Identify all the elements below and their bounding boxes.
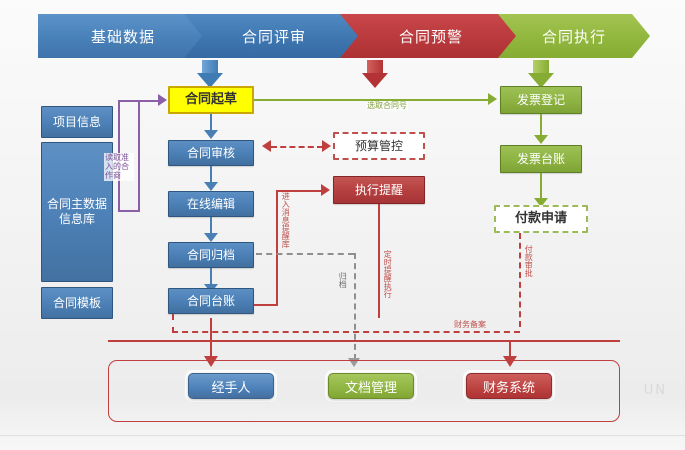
connector-payment-approval-v: [519, 233, 521, 327]
banner-arrow-red-icon: [362, 60, 388, 88]
node-invoice-ledger-label: 发票台账: [517, 152, 565, 167]
connector-dashed-bus: [172, 331, 520, 333]
connector-bus-to-handler-line: [210, 340, 212, 358]
node-contract-ledger[interactable]: 合同台账: [168, 288, 254, 314]
connector-exec-reminder-down: [378, 204, 380, 318]
connector-to-exec-reminder-arrow: [321, 184, 330, 196]
connector-invoice-reg-to-ledger-arrow: [534, 135, 548, 144]
node-contract-review-label: 合同审核: [187, 146, 235, 161]
sidebar-item-contract-master-db-label-1: 合同主数据: [47, 197, 107, 212]
connector-ledger-to-exec-h: [254, 304, 278, 306]
node-contract-archive[interactable]: 合同归档: [168, 242, 254, 268]
connector-review-to-edit-arrow: [204, 182, 218, 191]
node-invoice-register[interactable]: 发票登记: [500, 86, 582, 114]
connector-invoice-ledger-to-payment-line: [540, 173, 542, 199]
connector-archive-to-ledger-line: [210, 268, 212, 285]
banner-stage-4-label: 合同执行: [542, 26, 606, 47]
connector-sidebar-to-draft-top: [118, 100, 160, 102]
node-contract-archive-label: 合同归档: [187, 248, 235, 263]
node-contract-ledger-label: 合同台账: [187, 294, 235, 309]
connector-sidebar-to-draft-bottom: [118, 210, 140, 212]
stage-banner: 基础数据 合同评审 合同预警 合同执行: [38, 14, 650, 58]
connector-review-to-edit-line: [210, 166, 212, 183]
connector-ledger-down-to-bus: [210, 318, 212, 342]
sidebar-item-project-info[interactable]: 项目信息: [41, 106, 113, 138]
banner-stage-4[interactable]: 合同执行: [498, 14, 650, 58]
node-payment-request[interactable]: 付款申请: [494, 205, 588, 233]
node-online-edit-label: 在线编辑: [187, 197, 235, 212]
connector-exec-reminder-vertical: [276, 190, 278, 306]
sidebar-item-contract-master-db-label-2: 信息库: [59, 212, 95, 227]
node-contract-review[interactable]: 合同审核: [168, 140, 254, 166]
output-handler[interactable]: 经手人: [188, 373, 274, 399]
output-finance-system-label: 财务系统: [483, 377, 535, 396]
connector-invoice-reg-to-ledger-line: [540, 114, 542, 136]
banner-stage-3[interactable]: 合同预警: [340, 14, 522, 58]
connector-draft-to-review-line: [210, 114, 212, 131]
connector-sidebar-to-draft-arrowhead: [158, 94, 167, 106]
annotation-timed-reminder: 定时提醒执行: [383, 250, 392, 322]
sidebar-item-project-info-label: 项目信息: [53, 115, 101, 130]
node-exec-reminder-label: 执行提醒: [355, 183, 403, 198]
connector-sidebar-bracket-right: [138, 100, 140, 212]
sidebar-item-contract-master-db[interactable]: 合同主数据 信息库: [41, 142, 113, 282]
watermark: UN: [644, 383, 667, 398]
node-online-edit[interactable]: 在线编辑: [168, 191, 254, 217]
connector-draft-to-review-arrow: [204, 130, 218, 139]
annotation-finance-record: 财务备案: [454, 320, 486, 329]
connector-draft-to-invoice-arrow: [488, 93, 497, 105]
connector-review-budget-arrow-left: [262, 140, 271, 152]
banner-stage-2-label: 合同评审: [242, 26, 306, 47]
sidebar-item-contract-template-label: 合同模板: [53, 296, 101, 311]
banner-stage-1-label: 基础数据: [91, 26, 155, 47]
node-payment-request-label: 付款申请: [515, 211, 567, 227]
connector-archive-to-doc-v: [354, 253, 356, 360]
annotation-read-partner: 读取准 入的合 作商: [104, 153, 134, 181]
annotation-payment-approval: 付款审批: [524, 245, 533, 317]
banner-stage-2[interactable]: 合同评审: [184, 14, 364, 58]
annotation-enter-msg-lib: 进入消息提醒库: [281, 192, 290, 258]
connector-review-budget-dash: [271, 146, 323, 148]
node-budget-control[interactable]: 预算管控: [333, 132, 425, 160]
banner-stage-3-label: 合同预警: [399, 26, 463, 47]
annotation-archive-vertical: 归档: [338, 272, 347, 300]
node-invoice-ledger[interactable]: 发票台账: [500, 145, 582, 173]
connector-review-budget-arrow-right: [322, 140, 331, 152]
node-contract-draft-label: 合同起草: [185, 92, 237, 108]
connector-edit-to-archive-arrow: [204, 233, 218, 242]
annotation-select-contract-no: 选取合同号: [366, 101, 408, 110]
banner-arrow-blue-icon: [197, 60, 223, 88]
output-doc-management[interactable]: 文档管理: [328, 373, 414, 399]
node-exec-reminder[interactable]: 执行提醒: [333, 176, 425, 204]
sidebar-item-contract-template[interactable]: 合同模板: [41, 287, 113, 319]
connector-edit-to-archive-line: [210, 217, 212, 234]
node-invoice-register-label: 发票登记: [517, 93, 565, 108]
connector-archive-to-doc-h: [256, 253, 354, 255]
connector-ledger-to-bus: [172, 314, 174, 333]
banner-stage-1[interactable]: 基础数据: [38, 14, 208, 58]
output-doc-management-label: 文档管理: [345, 377, 397, 396]
output-handler-label: 经手人: [211, 377, 250, 396]
banner-arrow-green-icon: [528, 60, 554, 88]
connector-solid-bus: [108, 340, 620, 342]
node-contract-draft[interactable]: 合同起草: [168, 86, 254, 114]
output-finance-system[interactable]: 财务系统: [466, 373, 552, 399]
diagram-canvas: 基础数据 合同评审 合同预警 合同执行 项目信息 合同主数据 信息库 合同模板 …: [0, 0, 685, 450]
node-budget-control-label: 预算管控: [355, 139, 403, 154]
